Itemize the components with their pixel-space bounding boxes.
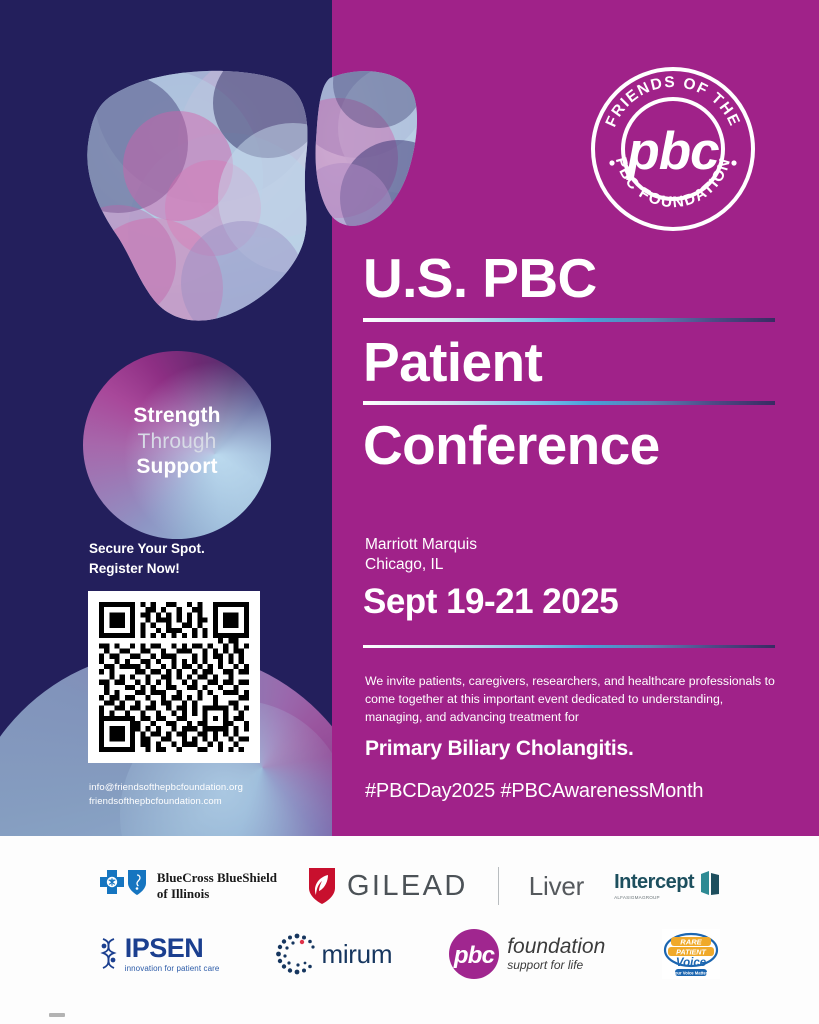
tagline-strength-through-support: Strength Through Support xyxy=(83,403,271,480)
venue-city: Chicago, IL xyxy=(365,555,477,575)
mirum-dots-icon xyxy=(275,932,319,976)
venue: Marriott Marquis Chicago, IL xyxy=(365,535,477,576)
svg-text:pbc: pbc xyxy=(625,122,719,181)
pbc-foundation-circle-icon: pbc xyxy=(448,928,500,980)
sponsor-intercept: Intercept ALFASIGMAGROUP xyxy=(614,872,721,900)
sponsor-pbc-foundation: pbc foundation support for life xyxy=(448,928,605,980)
sponsor-bluecross-blueshield-of-illinois: BlueCross BlueShield of Illinois xyxy=(98,867,277,905)
contact-website[interactable]: friendsofthepbcfoundation.com xyxy=(89,795,243,809)
tagline-line-3: Support xyxy=(83,454,271,480)
title-divider-2 xyxy=(363,401,775,405)
bcbs-line-2: of Illinois xyxy=(157,886,277,902)
intercept-subtext: ALFASIGMAGROUP xyxy=(614,895,694,900)
venue-name: Marriott Marquis xyxy=(365,535,477,555)
liver-wordmark: Liver xyxy=(529,871,584,902)
ipsen-helix-icon xyxy=(98,937,120,971)
svg-text:RARE: RARE xyxy=(681,938,703,947)
sponsor-mirum: mirum xyxy=(275,932,392,976)
title-divider-1 xyxy=(363,318,775,322)
ipsen-tagline: innovation for patient care xyxy=(125,964,220,973)
sponsor-gilead: GILEAD xyxy=(307,866,468,906)
registration-qr-code[interactable] xyxy=(88,591,260,763)
register-line-2: Register Now! xyxy=(89,559,205,579)
contact-info: info@friendsofthepbcfoundation.org frien… xyxy=(89,781,243,809)
gilead-shield-icon xyxy=(307,866,337,906)
intercept-door-icon xyxy=(699,870,721,896)
disease-name: Primary Biliary Cholangitis. xyxy=(365,737,634,761)
rare-patient-voice-logo-icon: RARE PATIENT Voice Your Voice Matters xyxy=(661,928,721,980)
svg-text:PATIENT: PATIENT xyxy=(676,948,706,957)
title-line-3: Conference xyxy=(363,415,775,476)
sponsor-rare-patient-voice: RARE PATIENT Voice Your Voice Matters xyxy=(661,928,721,980)
sponsor-row-2: IPSEN innovation for patient care xyxy=(0,924,819,984)
footer-divider xyxy=(498,867,499,905)
register-callout: Secure Your Spot. Register Now! xyxy=(89,539,205,580)
intercept-wordmark: Intercept xyxy=(614,872,694,892)
svg-text:Your Voice Matters: Your Voice Matters xyxy=(673,970,711,975)
mirum-wordmark: mirum xyxy=(321,939,392,970)
conference-title: U.S. PBC Patient Conference xyxy=(363,248,775,476)
pbc-foundation-wordmark: foundation xyxy=(507,936,605,958)
svg-text:Voice: Voice xyxy=(676,957,707,969)
ipsen-wordmark: IPSEN xyxy=(125,935,220,962)
register-line-1: Secure Your Spot. xyxy=(89,539,205,559)
sponsor-row-1: BlueCross BlueShield of Illinois GILEAD xyxy=(0,856,819,916)
pbc-conference-poster: Strength Through Support Secure Your Spo… xyxy=(0,0,819,1024)
friends-of-the-pbc-foundation-logo: FRIENDS OF THE PBC FOUNDATION pbc xyxy=(591,67,755,231)
sponsor-footer: BlueCross BlueShield of Illinois GILEAD xyxy=(0,836,819,1024)
bcbs-cross-shield-icon xyxy=(98,867,150,905)
bcbs-line-1: BlueCross BlueShield xyxy=(157,870,277,886)
event-date: Sept 19-21 2025 xyxy=(363,582,618,622)
svg-text:pbc: pbc xyxy=(453,942,495,969)
date-divider xyxy=(363,645,775,648)
gilead-wordmark: GILEAD xyxy=(347,870,468,903)
sponsor-liver: Liver xyxy=(529,871,584,902)
hashtags: #PBCDay2025 #PBCAwarenessMonth xyxy=(365,780,703,803)
tagline-line-2: Through xyxy=(83,429,271,455)
title-line-1: U.S. PBC xyxy=(363,248,775,309)
sponsor-ipsen: IPSEN innovation for patient care xyxy=(98,935,220,973)
page-artifact xyxy=(49,1013,65,1017)
invitation-blurb: We invite patients, caregivers, research… xyxy=(365,672,777,727)
title-line-2: Patient xyxy=(363,332,775,393)
contact-email[interactable]: info@friendsofthepbcfoundation.org xyxy=(89,781,243,795)
pbc-foundation-tagline: support for life xyxy=(507,958,605,972)
tagline-line-1: Strength xyxy=(83,403,271,429)
